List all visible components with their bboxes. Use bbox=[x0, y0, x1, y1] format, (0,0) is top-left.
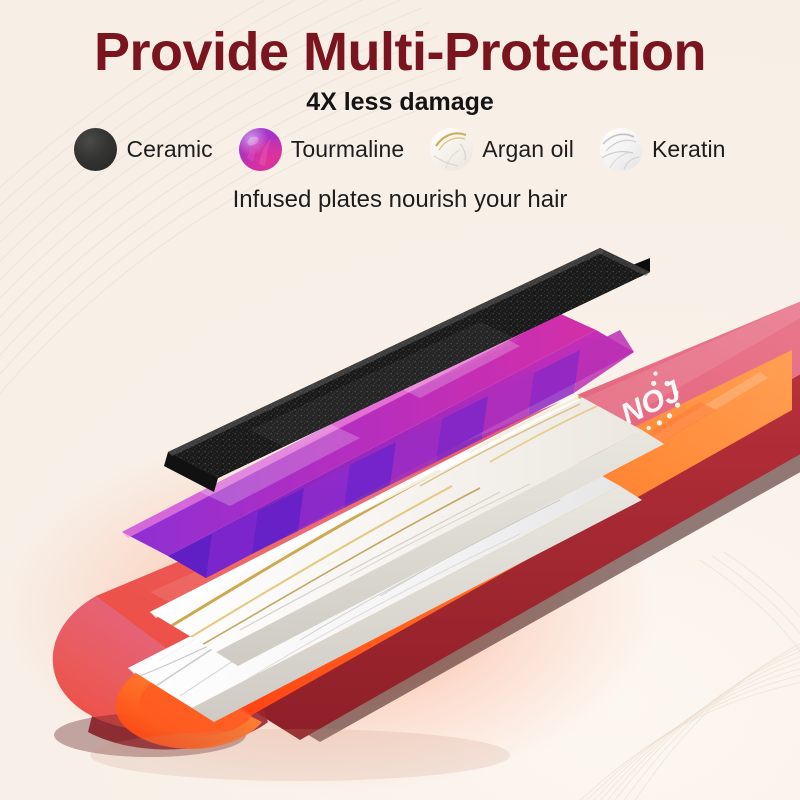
contact-shadow bbox=[90, 729, 510, 781]
product-marketing-image: Provide Multi-Protection 4X less damage … bbox=[0, 0, 800, 800]
product-illustration: NOJ bbox=[0, 0, 800, 800]
